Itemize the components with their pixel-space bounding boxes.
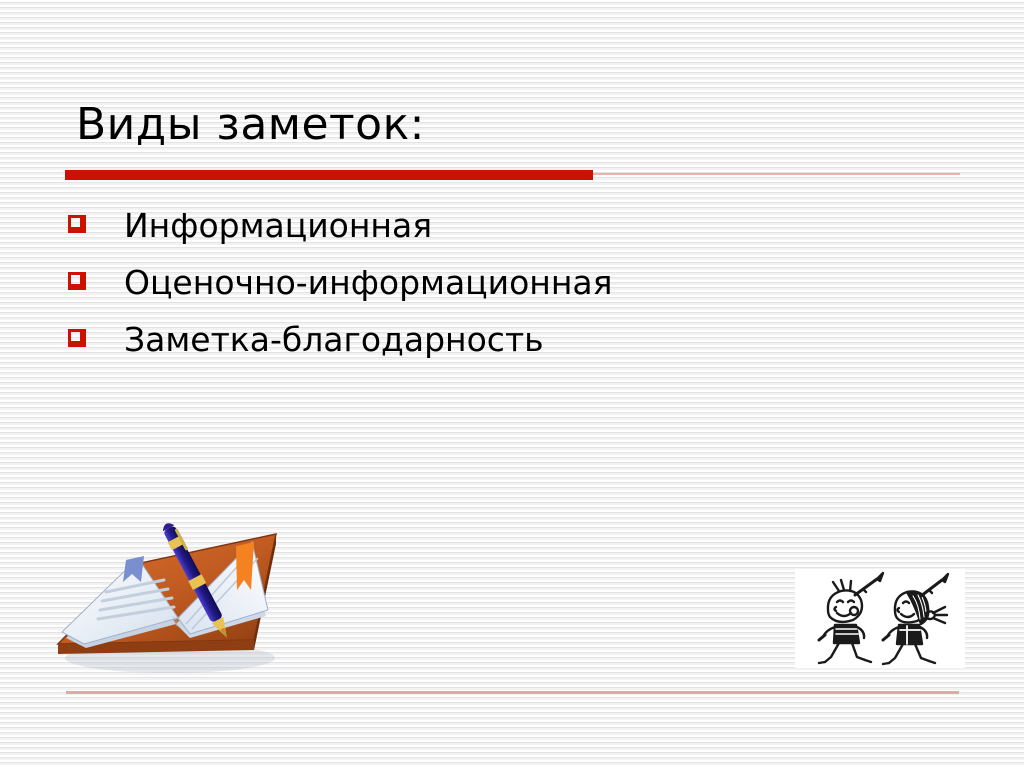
two-running-children-with-pens-icon bbox=[795, 569, 965, 668]
title-underline-accent-bar bbox=[65, 170, 593, 180]
red-hollow-square-bullet-icon bbox=[68, 272, 90, 294]
list-item: Информационная bbox=[68, 204, 968, 261]
list-item-label: Оценочно-информационная bbox=[124, 261, 613, 305]
red-hollow-square-bullet-icon bbox=[68, 215, 90, 237]
red-hollow-square-bullet-icon bbox=[68, 329, 90, 351]
footer-divider bbox=[66, 691, 959, 694]
open-book-with-pen-icon bbox=[40, 498, 292, 680]
page-title: Виды заметок: bbox=[76, 98, 956, 152]
list-item-label: Информационная bbox=[124, 204, 432, 248]
list-item: Заметка-благодарность bbox=[68, 318, 968, 375]
title-underline bbox=[65, 170, 960, 180]
list-item-label: Заметка-благодарность bbox=[124, 318, 544, 362]
list-item: Оценочно-информационная bbox=[68, 261, 968, 318]
bullet-list: Информационная Оценочно-информационная З… bbox=[68, 204, 968, 375]
slide: Виды заметок: Информационная Оценочно-ин… bbox=[0, 0, 1024, 767]
